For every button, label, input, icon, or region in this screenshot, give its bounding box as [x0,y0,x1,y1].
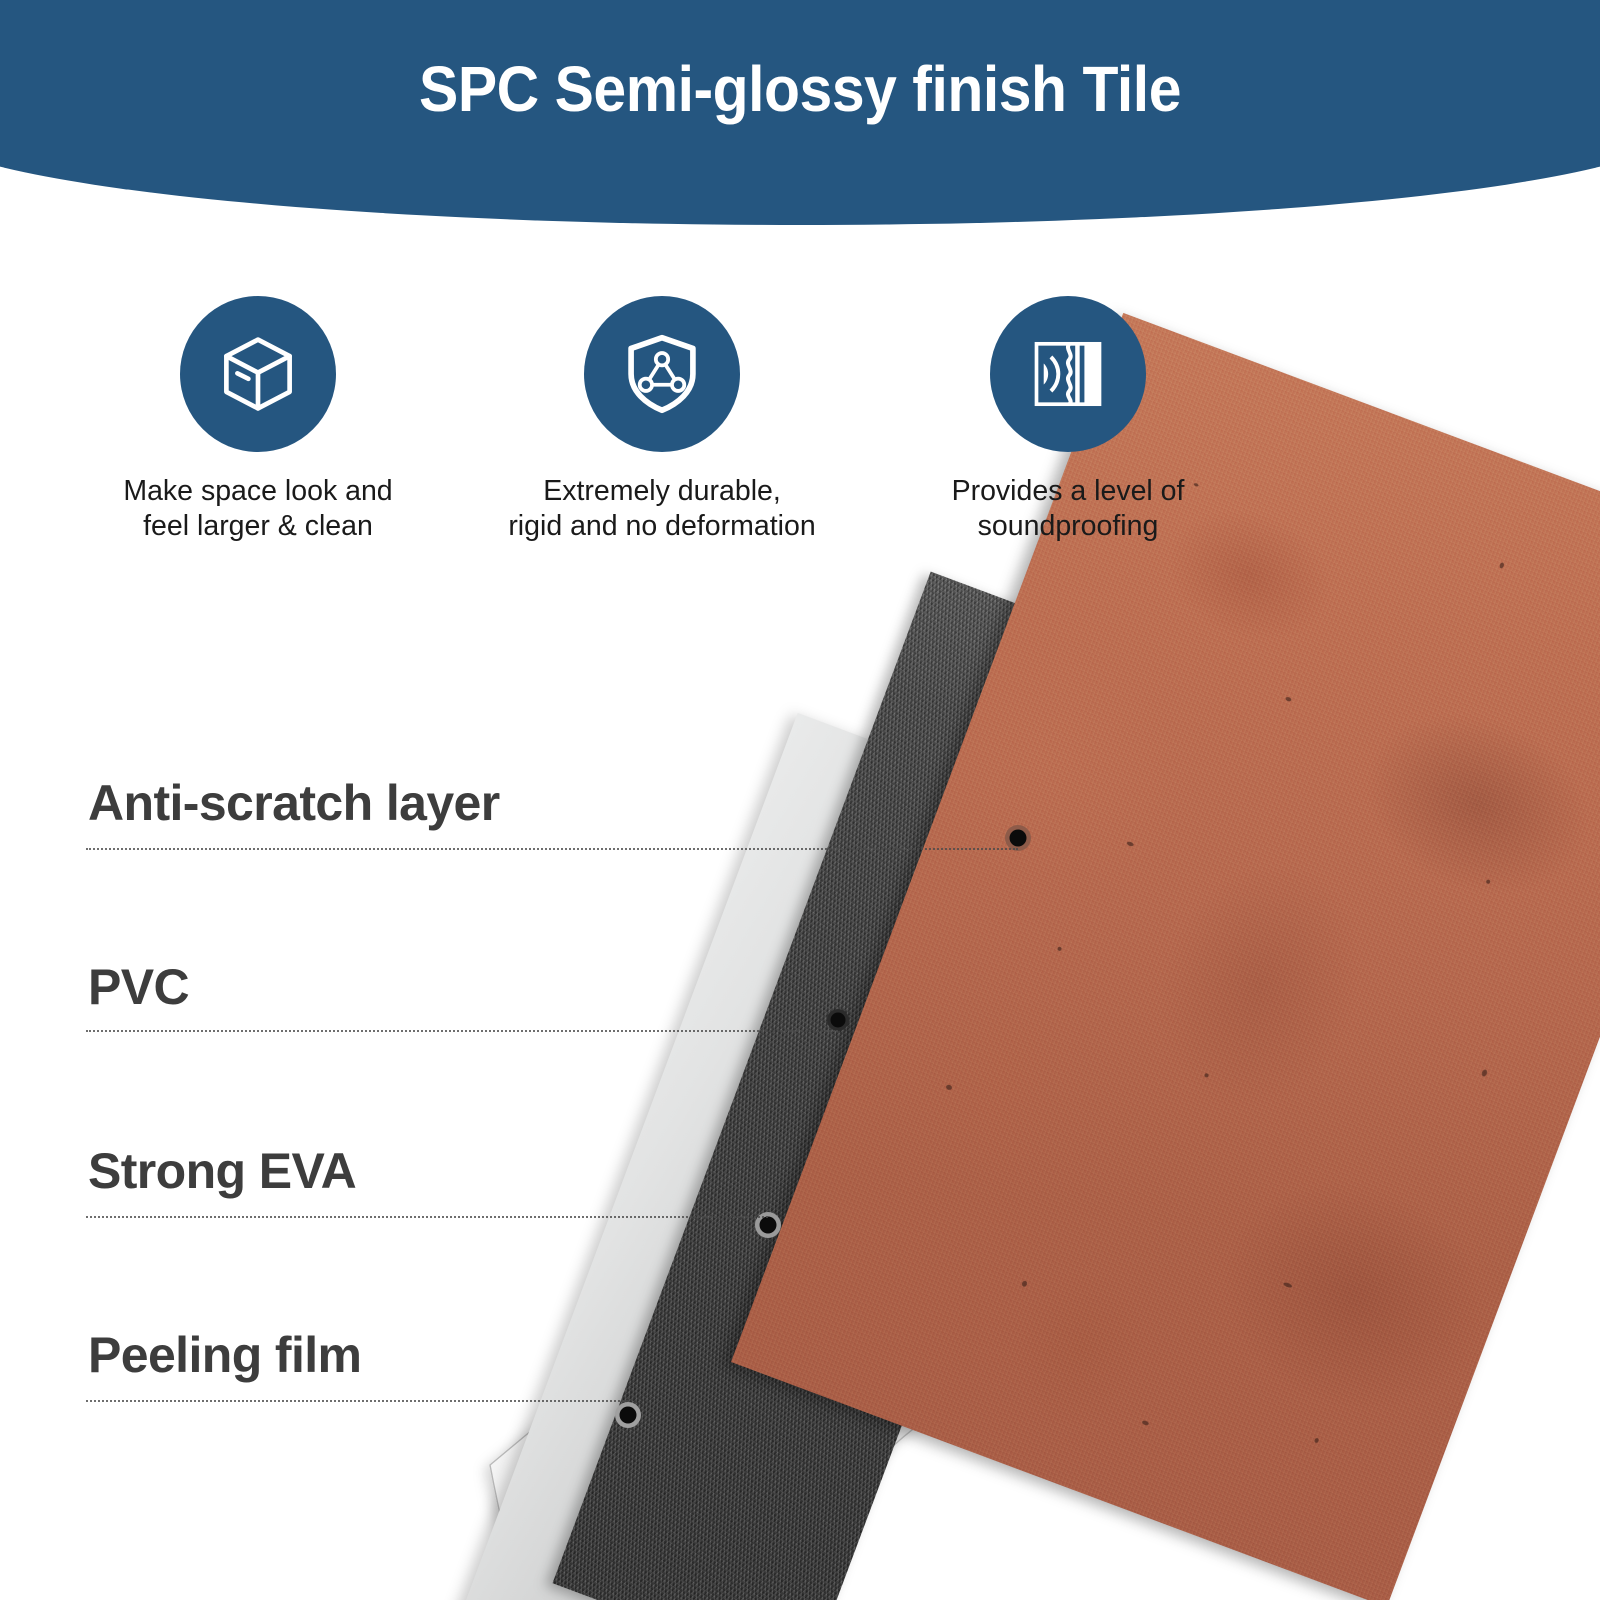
feature-row: Make space look and feel larger & clean … [0,296,1600,556]
feature-item-soundproof: Provides a level of soundproofing [898,296,1238,544]
leader-line-anti-scratch [86,848,1018,850]
callout-anti-scratch-layer: Anti-scratch layer [88,778,500,828]
callout-pvc: PVC [88,962,189,1012]
layer-label-pvc: PVC [88,962,189,1012]
callout-strong-eva: Strong EVA [88,1146,356,1196]
leader-line-pvc [86,1030,838,1032]
layer-callouts: Anti-scratch layer PVC Strong EVA Peelin… [0,0,1600,1600]
infographic-canvas: Anti-scratch layer PVC Strong EVA Peelin… [0,0,1600,1600]
feature-item-space: Make space look and feel larger & clean [88,296,428,544]
feature-icon-circle-0 [180,296,336,452]
page-title: SPC Semi-glossy finish Tile [64,52,1536,126]
feature-caption-1: Extremely durable, rigid and no deformat… [492,474,832,544]
feature-caption-0: Make space look and feel larger & clean [88,474,428,544]
leader-line-peeling-film [86,1400,628,1402]
feature-caption-2: Provides a level of soundproofing [898,474,1238,544]
layer-label-peeling-film: Peeling film [88,1330,361,1380]
shield-molecule-icon [619,331,705,417]
feature-icon-circle-1 [584,296,740,452]
layer-label-anti-scratch: Anti-scratch layer [88,778,500,828]
feature-icon-circle-2 [990,296,1146,452]
callout-peeling-film: Peeling film [88,1330,361,1380]
soundproofing-icon [1026,332,1110,416]
layer-label-strong-eva: Strong EVA [88,1146,356,1196]
box-3d-icon [214,330,302,418]
feature-item-durable: Extremely durable, rigid and no deformat… [492,296,832,544]
leader-line-strong-eva [86,1216,768,1218]
page-header: SPC Semi-glossy finish Tile [0,0,1600,240]
